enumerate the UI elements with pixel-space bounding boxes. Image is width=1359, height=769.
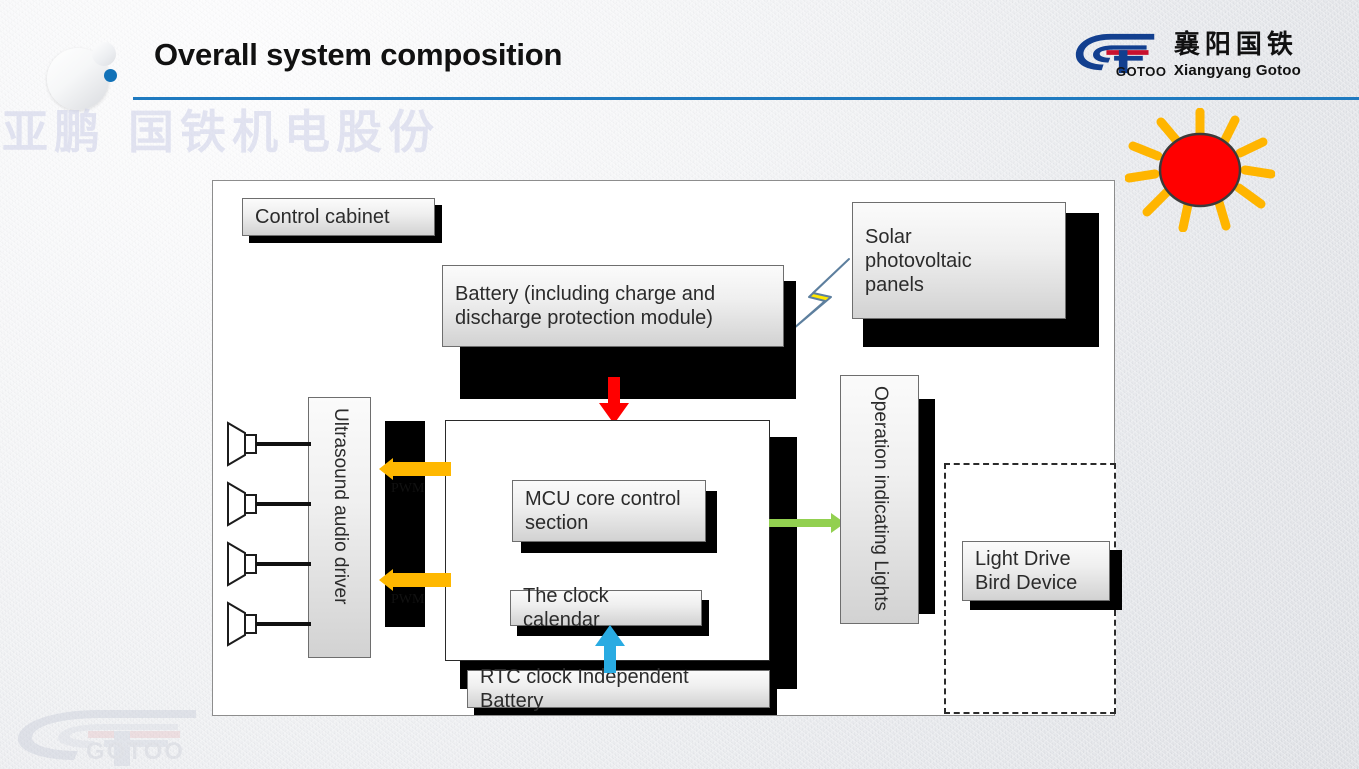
block-light-drive-bird-device-label: Light Drive Bird Device <box>975 547 1097 595</box>
logo-english-name: Xiangyang Gotoo <box>1174 63 1301 78</box>
ultrasound-speaker-array <box>215 417 315 657</box>
page-title: Overall system composition <box>154 37 562 73</box>
block-rtc-battery[interactable]: RTC clock Independent Battery <box>467 670 770 708</box>
arrow-battery-to-mcu <box>597 377 631 425</box>
block-control-cabinet[interactable]: Control cabinet <box>242 198 435 236</box>
title-underline <box>133 97 1359 100</box>
block-ultrasound-driver-label: Ultrasound audio driver <box>328 408 351 604</box>
block-solar-panels[interactable]: Solar photovoltaic panels <box>852 202 1066 319</box>
system-diagram-frame: Control cabinet Solar photovoltaic panel… <box>212 180 1115 716</box>
company-logo: GOTOO 襄阳国铁 Xiangyang Gotoo <box>1072 28 1301 82</box>
block-operation-lights[interactable]: Operation indicating Lights <box>840 375 919 624</box>
block-solar-panels-label: Solar photovoltaic panels <box>865 225 995 297</box>
block-mcu-core-label: MCU core control section <box>525 487 693 535</box>
block-operation-lights-label: Operation indicating Lights <box>868 386 891 611</box>
label-pwm-top: PWM <box>391 481 424 497</box>
lightning-bolt-icon <box>787 257 853 331</box>
logo-chinese-name: 襄阳国铁 <box>1174 32 1301 58</box>
block-control-cabinet-label: Control cabinet <box>255 205 390 229</box>
arrow-pwm-bottom <box>379 569 451 591</box>
footer-logo-label: GOTOO <box>86 738 185 766</box>
block-battery-label: Battery (including charge and discharge … <box>455 282 771 330</box>
footer-watermark-logo: GOTOO <box>8 706 218 768</box>
block-battery[interactable]: Battery (including charge and discharge … <box>442 265 784 347</box>
decor-dot-blue <box>104 69 117 82</box>
slide-canvas: Overall system composition 亚鹏 国铁机电股份 郝亚鹏… <box>0 0 1359 769</box>
arrow-mcu-to-lights <box>769 513 845 533</box>
block-mcu-core[interactable]: MCU core control section <box>512 480 706 542</box>
block-clock-calendar[interactable]: The clock calendar <box>510 590 702 626</box>
arrow-rtc-to-clock <box>593 625 627 673</box>
logo-gotoo-label: GOTOO <box>1116 64 1167 79</box>
block-light-drive-bird-device[interactable]: Light Drive Bird Device <box>962 541 1110 601</box>
block-ultrasound-driver[interactable]: Ultrasound audio driver <box>308 397 371 658</box>
arrow-pwm-top <box>379 458 451 480</box>
label-pwm-bottom: PWM <box>391 592 424 608</box>
sun-icon <box>1125 108 1275 232</box>
decor-circle-small <box>92 42 116 66</box>
